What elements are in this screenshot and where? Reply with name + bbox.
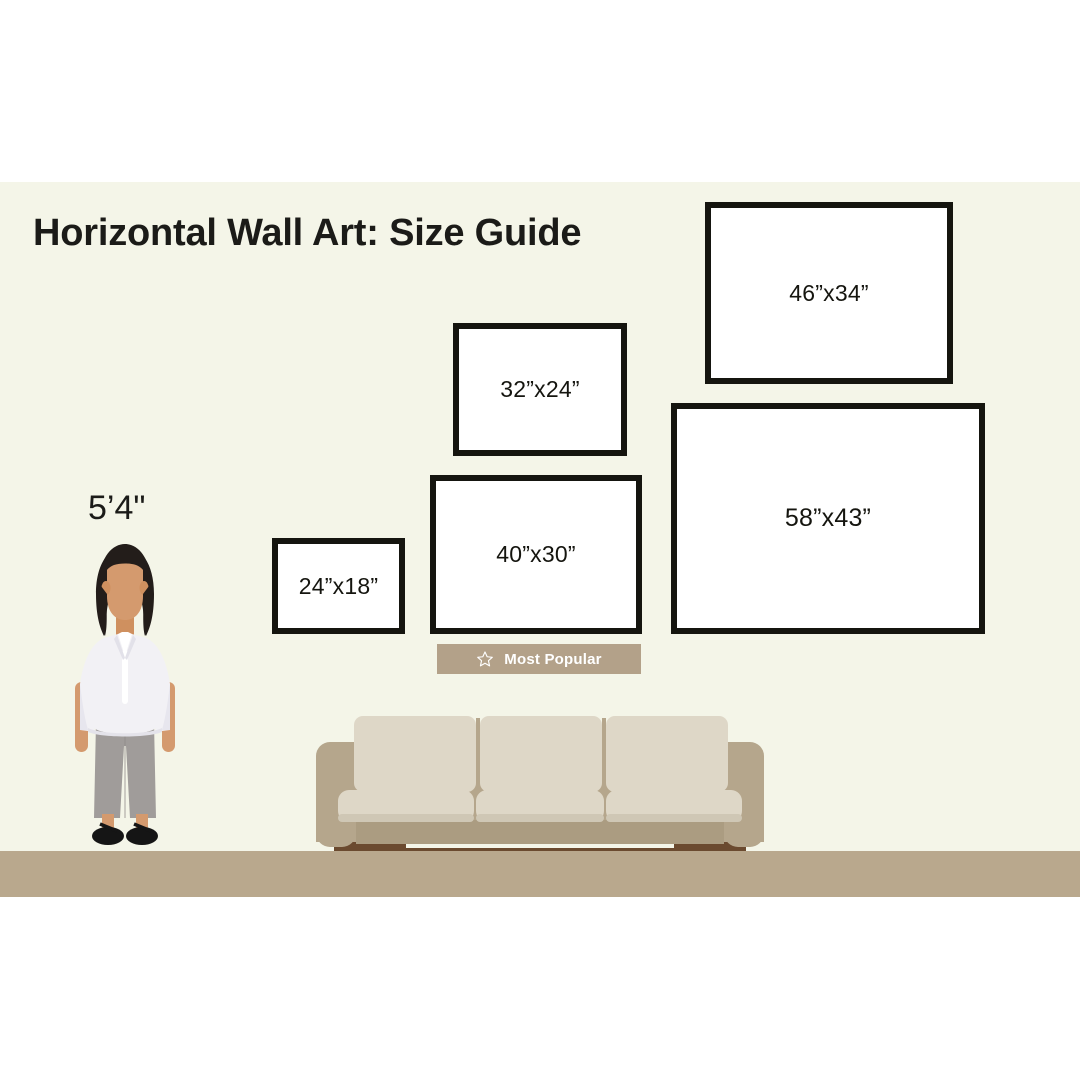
height-reference-label: 5’4" xyxy=(88,489,145,528)
frame-40x30-label: 40”x30” xyxy=(496,541,575,568)
frame-32x24[interactable]: 32”x24” xyxy=(453,323,627,456)
frame-58x43-label: 58”x43” xyxy=(785,504,871,533)
star-outline-icon xyxy=(476,650,494,668)
frame-46x34-label: 46”x34” xyxy=(789,280,868,307)
most-popular-badge-label: Most Popular xyxy=(504,651,601,668)
frame-32x24-label: 32”x24” xyxy=(500,376,579,403)
page-title: Horizontal Wall Art: Size Guide xyxy=(33,212,581,255)
person-scale-figure xyxy=(60,532,190,852)
frame-46x34[interactable]: 46”x34” xyxy=(705,202,953,384)
frame-24x18[interactable]: 24”x18” xyxy=(272,538,405,634)
frame-24x18-label: 24”x18” xyxy=(299,573,378,600)
frame-58x43[interactable]: 58”x43” xyxy=(671,403,985,634)
most-popular-badge[interactable]: Most Popular xyxy=(437,644,641,674)
room-scene: Horizontal Wall Art: Size Guide 5’4" 24”… xyxy=(0,182,1080,897)
wall-art-size-guide-canvas: Horizontal Wall Art: Size Guide 5’4" 24”… xyxy=(0,0,1080,1080)
frame-40x30[interactable]: 40”x30” xyxy=(430,475,642,634)
floor-band xyxy=(0,851,1080,897)
